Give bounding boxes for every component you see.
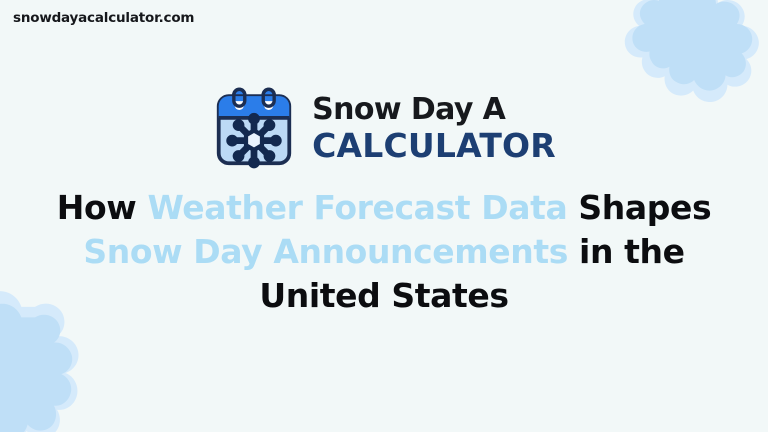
brand-wordmark: Snow Day A CALCULATOR (312, 95, 556, 162)
brand-logo[interactable]: Snow Day A CALCULATOR (0, 86, 768, 170)
brand-wordmark-line2: CALCULATOR (312, 129, 556, 162)
headline-part-shapes: Shapes (578, 188, 711, 227)
hero-banner: snowdayacalculator.com (0, 0, 768, 432)
headline-part-how: How (57, 188, 137, 227)
headline-accent-snow-day-announcements: Snow Day Announcements (83, 232, 568, 271)
calendar-snowflake-icon (212, 86, 296, 170)
page-title: How Weather Forecast Data Shapes Snow Da… (39, 186, 729, 319)
site-url-label: snowdayacalculator.com (13, 10, 194, 26)
brand-wordmark-line1: Snow Day A (312, 95, 556, 125)
headline-accent-weather-forecast-data: Weather Forecast Data (147, 188, 567, 227)
